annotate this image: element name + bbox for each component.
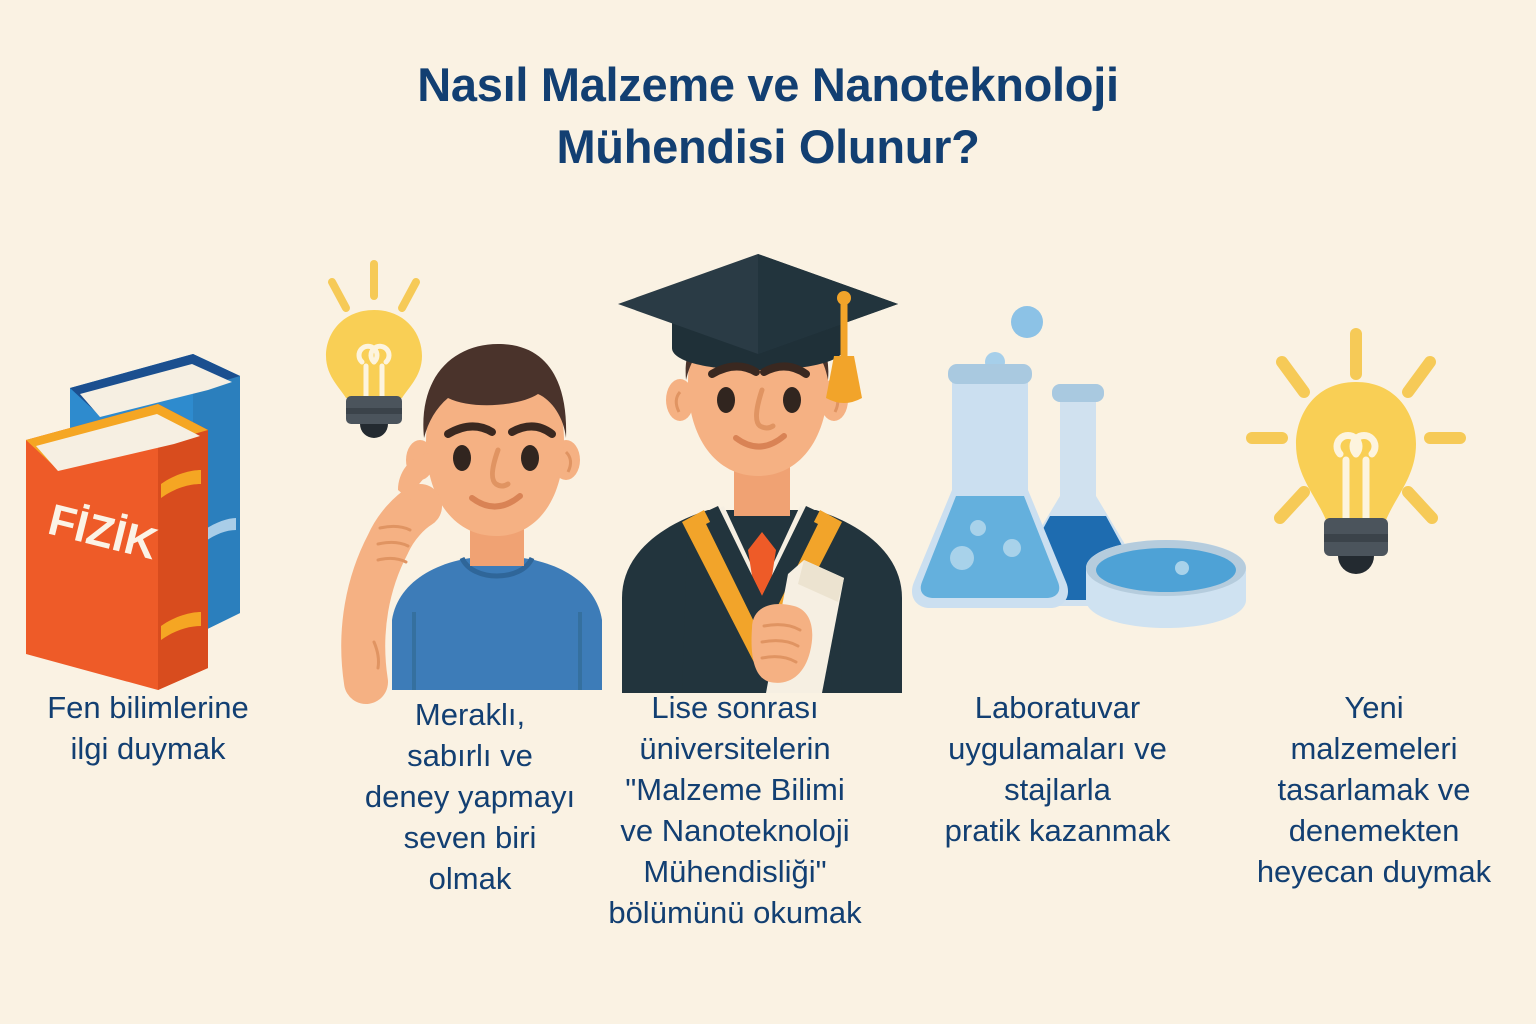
- caption-lab-internship: Laboratuvar uygulamaları ve stajlarla pr…: [905, 688, 1210, 852]
- lightbulb-icon: [1238, 330, 1486, 615]
- page-title: Nasıl Malzeme ve Nanoteknoloji Mühendisi…: [0, 54, 1536, 178]
- caption-design-new-materials: Yeni malzemeleri tasarlamak ve denemekte…: [1218, 688, 1530, 893]
- caption-university-department: Lise sonrası üniversitelerin "Malzeme Bi…: [560, 688, 910, 933]
- books-icon: FİZİK: [8, 318, 273, 683]
- caption-science-interest: Fen bilimlerine ilgi duymak: [0, 688, 298, 770]
- lab-flasks-icon: [900, 300, 1260, 645]
- graduate-icon: [612, 238, 912, 693]
- infographic-canvas: Nasıl Malzeme ve Nanoteknoloji Mühendisi…: [0, 0, 1536, 1024]
- thinking-person-icon: [352, 330, 642, 690]
